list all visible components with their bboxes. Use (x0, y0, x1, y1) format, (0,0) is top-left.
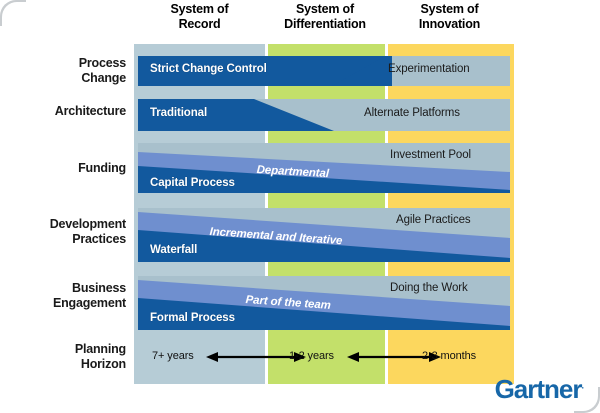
column-header-line2: Record (134, 17, 265, 32)
row-labels: Process Change Architecture Funding Deve… (8, 44, 130, 384)
row-label-line2: Horizon (75, 357, 126, 372)
column-header-system-of-differentiation: System of Differentiation (265, 2, 385, 32)
row-band-funding (138, 143, 510, 193)
card-corner-mask-top-left (2, 2, 28, 28)
row-label-line1: Development (50, 217, 126, 232)
row-label-line2: Engagement (53, 296, 126, 311)
row-label-line1: Funding (78, 161, 126, 176)
gartner-logo-trademark: . (581, 380, 584, 390)
column-header-system-of-innovation: System of Innovation (385, 2, 514, 32)
column-headers: System of Record System of Differentiati… (134, 2, 514, 42)
maturity-diagram: Strict Change Control Experimentation Tr… (134, 44, 514, 384)
row-label-line1: Planning (75, 342, 126, 357)
row-label-funding: Funding (78, 161, 126, 176)
row-band-development-practices (138, 208, 510, 262)
row-label-business-engagement: Business Engagement (53, 281, 126, 311)
row-band-process-change (138, 56, 510, 86)
row-label-process-change: Process Change (79, 56, 126, 86)
row-label-development-practices: Development Practices (50, 217, 126, 247)
row-label-line2: Change (79, 71, 126, 86)
gartner-logo-text: Gartner (495, 374, 582, 404)
band-dark-joint (384, 56, 392, 86)
column-header-line2: Differentiation (265, 17, 385, 32)
gartner-logo: Gartner. (495, 374, 584, 405)
column-header-line2: Innovation (385, 17, 514, 32)
row-label-line1: Architecture (55, 104, 126, 119)
row-band-business-engagement (138, 276, 510, 330)
row-label-architecture: Architecture (55, 104, 126, 119)
column-header-line1: System of (265, 2, 385, 17)
row-label-line1: Business (53, 281, 126, 296)
row-band-architecture (138, 99, 510, 131)
screenshot-root: System of Record System of Differentiati… (0, 0, 600, 413)
row-label-line2: Practices (50, 232, 126, 247)
column-header-line1: System of (385, 2, 514, 17)
row-label-line1: Process (79, 56, 126, 71)
column-header-line1: System of (134, 2, 265, 17)
column-header-system-of-record: System of Record (134, 2, 265, 32)
diagram-canvas (134, 44, 514, 384)
row-label-planning-horizon: Planning Horizon (75, 342, 126, 372)
